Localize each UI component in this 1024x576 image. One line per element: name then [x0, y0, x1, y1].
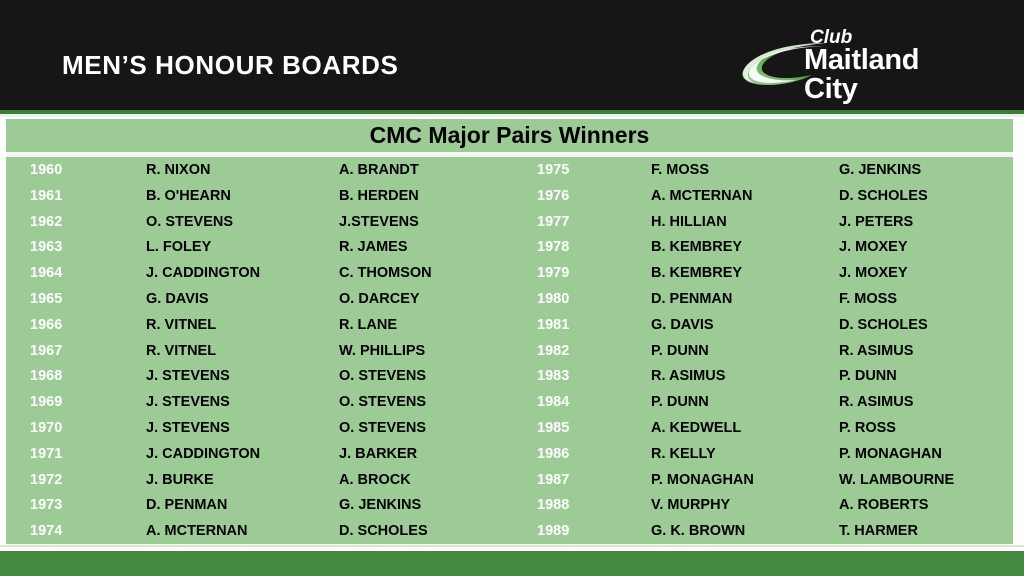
table-row: 1971J. CADDINGTONJ. BARKER1986R. KELLYP.…: [6, 441, 1013, 467]
cell-year-left: 1961: [30, 183, 130, 209]
cell-year-left: 1968: [30, 363, 130, 389]
cell-year-left: 1969: [30, 389, 130, 415]
cell-name-right-2: P. ROSS: [839, 415, 1013, 441]
table-row: 1965G. DAVISO. DARCEY1980D. PENMANF. MOS…: [6, 286, 1013, 312]
cell-year-left: 1962: [30, 209, 130, 235]
cell-name-left-2: C. THOMSON: [339, 260, 535, 286]
cell-name-right-1: B. KEMBREY: [651, 234, 837, 260]
cell-name-right-2: J. PETERS: [839, 209, 1013, 235]
page-title: MEN’S HONOUR BOARDS: [62, 52, 398, 78]
cell-name-right-1: D. PENMAN: [651, 286, 837, 312]
table-row: 1966R. VITNELR. LANE1981G. DAVISD. SCHOL…: [6, 312, 1013, 338]
winners-table: 1960R. NIXONA. BRANDT1975F. MOSSG. JENKI…: [6, 157, 1013, 544]
cell-year-right: 1983: [537, 363, 637, 389]
cell-name-right-1: R. ASIMUS: [651, 363, 837, 389]
cell-year-right: 1981: [537, 312, 637, 338]
cell-name-left-2: R. LANE: [339, 312, 535, 338]
cell-name-right-1: R. KELLY: [651, 441, 837, 467]
cell-name-right-1: H. HILLIAN: [651, 209, 837, 235]
cell-name-right-2: D. SCHOLES: [839, 183, 1013, 209]
cell-year-right: 1977: [537, 209, 637, 235]
cell-year-left: 1973: [30, 492, 130, 518]
cell-year-right: 1979: [537, 260, 637, 286]
footer-thin-line: [0, 545, 1024, 547]
slide-header: MEN’S HONOUR BOARDS Club Maitland City: [0, 0, 1024, 110]
cell-name-left-1: A. MCTERNAN: [146, 518, 336, 544]
table-row: 1972J. BURKEA. BROCK1987P. MONAGHANW. LA…: [6, 467, 1013, 493]
cell-year-right: 1987: [537, 467, 637, 493]
cell-name-right-1: P. DUNN: [651, 338, 837, 364]
cell-year-left: 1971: [30, 441, 130, 467]
cell-name-left-1: L. FOLEY: [146, 234, 336, 260]
cell-name-left-2: O. STEVENS: [339, 363, 535, 389]
cell-name-left-1: G. DAVIS: [146, 286, 336, 312]
cell-name-right-2: A. ROBERTS: [839, 492, 1013, 518]
cell-name-right-1: A. MCTERNAN: [651, 183, 837, 209]
cell-year-right: 1988: [537, 492, 637, 518]
table-row: 1961B. O'HEARNB. HERDEN1976A. MCTERNAND.…: [6, 183, 1013, 209]
cell-name-right-2: D. SCHOLES: [839, 312, 1013, 338]
cell-name-right-1: G. DAVIS: [651, 312, 837, 338]
cell-name-left-2: B. HERDEN: [339, 183, 535, 209]
table-row: 1974A. MCTERNAND. SCHOLES1989G. K. BROWN…: [6, 518, 1013, 544]
cell-name-left-2: O. STEVENS: [339, 415, 535, 441]
cell-name-left-1: J. CADDINGTON: [146, 260, 336, 286]
cell-name-left-1: R. NIXON: [146, 157, 336, 183]
table-row: 1968J. STEVENSO. STEVENS1983R. ASIMUSP. …: [6, 363, 1013, 389]
cell-name-right-2: W. LAMBOURNE: [839, 467, 1013, 493]
cell-year-left: 1974: [30, 518, 130, 544]
cell-year-left: 1963: [30, 234, 130, 260]
cell-year-left: 1967: [30, 338, 130, 364]
cell-year-right: 1980: [537, 286, 637, 312]
cell-name-right-2: G. JENKINS: [839, 157, 1013, 183]
cell-name-left-2: J.STEVENS: [339, 209, 535, 235]
cell-name-right-2: T. HARMER: [839, 518, 1013, 544]
cell-name-left-2: W. PHILLIPS: [339, 338, 535, 364]
cell-year-right: 1984: [537, 389, 637, 415]
cell-year-left: 1970: [30, 415, 130, 441]
cell-name-right-2: P. DUNN: [839, 363, 1013, 389]
cell-year-left: 1960: [30, 157, 130, 183]
cell-name-left-2: R. JAMES: [339, 234, 535, 260]
cell-name-left-1: D. PENMAN: [146, 492, 336, 518]
cell-year-left: 1972: [30, 467, 130, 493]
table-row: 1964J. CADDINGTONC. THOMSON1979B. KEMBRE…: [6, 260, 1013, 286]
table-row: 1967R. VITNELW. PHILLIPS1982P. DUNNR. AS…: [6, 338, 1013, 364]
cell-name-left-1: J. STEVENS: [146, 363, 336, 389]
cell-name-right-1: V. MURPHY: [651, 492, 837, 518]
cell-name-right-1: A. KEDWELL: [651, 415, 837, 441]
cell-name-left-2: O. STEVENS: [339, 389, 535, 415]
cell-year-left: 1966: [30, 312, 130, 338]
cell-name-left-2: O. DARCEY: [339, 286, 535, 312]
footer-bar: [0, 551, 1024, 576]
cell-name-right-2: J. MOXEY: [839, 234, 1013, 260]
cell-name-left-2: A. BROCK: [339, 467, 535, 493]
cell-name-left-2: G. JENKINS: [339, 492, 535, 518]
cell-year-right: 1975: [537, 157, 637, 183]
table-row: 1970J. STEVENSO. STEVENS1985A. KEDWELLP.…: [6, 415, 1013, 441]
slide: MEN’S HONOUR BOARDS Club Maitland City: [0, 0, 1024, 576]
cell-year-right: 1989: [537, 518, 637, 544]
cell-name-right-2: J. MOXEY: [839, 260, 1013, 286]
cell-year-right: 1986: [537, 441, 637, 467]
cell-name-right-1: F. MOSS: [651, 157, 837, 183]
cell-name-right-2: F. MOSS: [839, 286, 1013, 312]
cell-year-right: 1976: [537, 183, 637, 209]
cell-name-left-1: J. STEVENS: [146, 415, 336, 441]
cell-name-right-2: R. ASIMUS: [839, 338, 1013, 364]
cell-name-left-1: R. VITNEL: [146, 338, 336, 364]
cell-name-right-2: P. MONAGHAN: [839, 441, 1013, 467]
cell-year-left: 1964: [30, 260, 130, 286]
table-row: 1973D. PENMANG. JENKINS1988V. MURPHYA. R…: [6, 492, 1013, 518]
cell-name-left-1: B. O'HEARN: [146, 183, 336, 209]
cell-name-left-2: J. BARKER: [339, 441, 535, 467]
cell-name-right-1: B. KEMBREY: [651, 260, 837, 286]
cell-name-left-1: O. STEVENS: [146, 209, 336, 235]
cell-name-right-1: P. DUNN: [651, 389, 837, 415]
cell-name-left-2: A. BRANDT: [339, 157, 535, 183]
table-row: 1969J. STEVENSO. STEVENS1984P. DUNNR. AS…: [6, 389, 1013, 415]
cell-name-left-1: J. BURKE: [146, 467, 336, 493]
cell-name-right-1: G. K. BROWN: [651, 518, 837, 544]
table-row: 1962O. STEVENSJ.STEVENS1977H. HILLIANJ. …: [6, 209, 1013, 235]
cell-name-left-2: D. SCHOLES: [339, 518, 535, 544]
cell-name-right-1: P. MONAGHAN: [651, 467, 837, 493]
board-title: CMC Major Pairs Winners: [6, 123, 1013, 148]
cell-name-right-2: R. ASIMUS: [839, 389, 1013, 415]
club-logo: Club Maitland City: [738, 28, 970, 90]
cell-name-left-1: J. STEVENS: [146, 389, 336, 415]
honour-board-panel: CMC Major Pairs Winners 1960R. NIXONA. B…: [6, 119, 1013, 544]
cell-year-left: 1965: [30, 286, 130, 312]
cell-name-left-1: J. CADDINGTON: [146, 441, 336, 467]
table-row: 1960R. NIXONA. BRANDT1975F. MOSSG. JENKI…: [6, 157, 1013, 183]
header-accent-light: [0, 114, 1024, 117]
logo-name-text: Maitland City: [804, 46, 970, 104]
table-row: 1963L. FOLEYR. JAMES1978B. KEMBREYJ. MOX…: [6, 234, 1013, 260]
cell-year-right: 1978: [537, 234, 637, 260]
cell-year-right: 1985: [537, 415, 637, 441]
cell-year-right: 1982: [537, 338, 637, 364]
cell-name-left-1: R. VITNEL: [146, 312, 336, 338]
board-title-row: CMC Major Pairs Winners: [6, 119, 1013, 151]
